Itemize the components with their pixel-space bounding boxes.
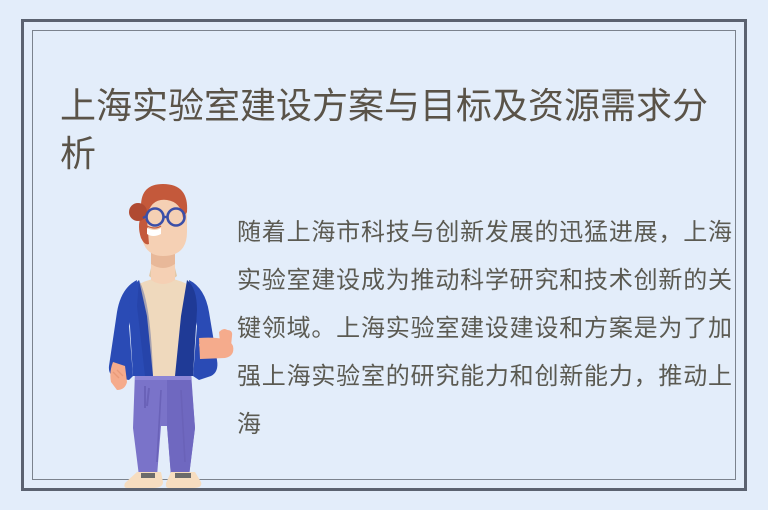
article-body: 随着上海市科技与创新发展的迅猛进展，上海实验室建设成为推动科学研究和技术创新的关… — [237, 209, 732, 449]
pants-group — [133, 372, 195, 476]
shoes-group — [124, 472, 201, 488]
left-arm-group — [110, 362, 127, 390]
head-group — [129, 184, 187, 256]
page-title: 上海实验室建设方案与目标及资源需求分析 — [60, 82, 720, 178]
person-thumbs-up-illustration — [83, 176, 243, 496]
content-card-inner-frame: 上海实验室建设方案与目标及资源需求分析 — [32, 30, 736, 480]
content-card: 上海实验室建设方案与目标及资源需求分析 — [21, 19, 747, 491]
